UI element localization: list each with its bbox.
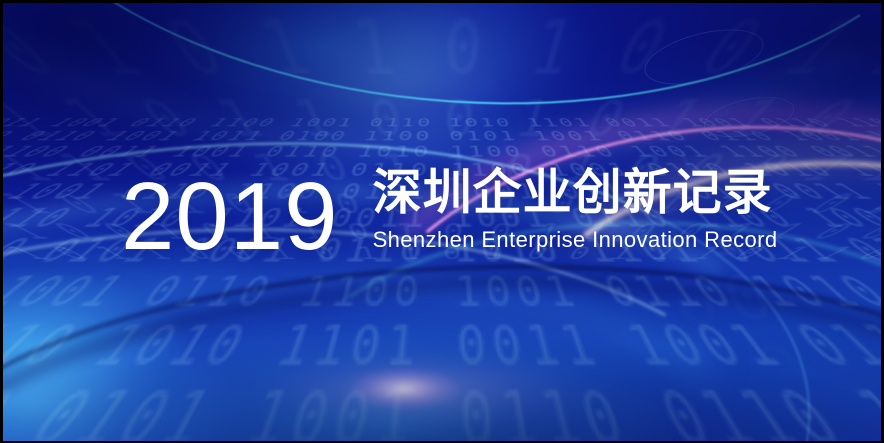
page-title-chinese: 深圳企业创新记录 <box>373 167 778 219</box>
title-block: 2019 深圳企业创新记录 Shenzhen Enterprise Innova… <box>121 163 778 265</box>
page-subtitle-english: Shenzhen Enterprise Innovation Record <box>373 227 778 253</box>
banner-image: 1 1 0 1 0 0 1 1 0 1 1 0 0 1 0 1 1 0 1 0 … <box>0 0 884 443</box>
title-text-group: 深圳企业创新记录 Shenzhen Enterprise Innovation … <box>373 163 778 253</box>
year-label: 2019 <box>121 169 339 265</box>
